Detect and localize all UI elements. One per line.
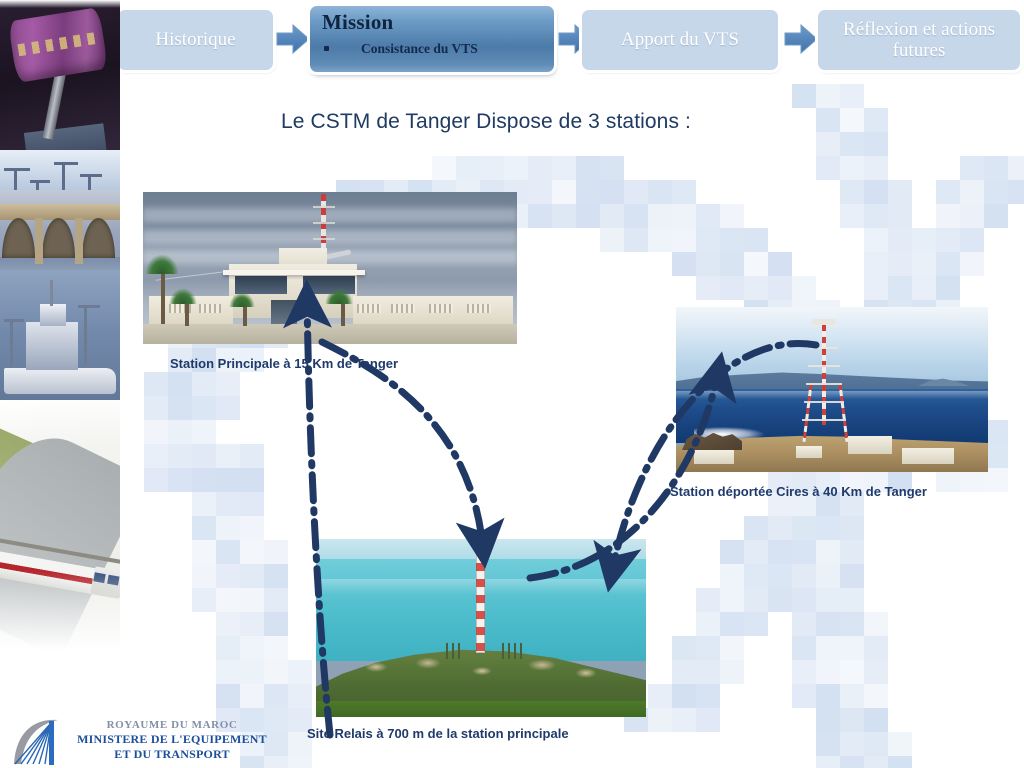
- footer-ministry-logo: ROYAUME DU MAROC MINISTERE DE L'EQUIPEME…: [8, 716, 278, 766]
- nav-item-mission[interactable]: Mission Consistance du VTS: [310, 6, 554, 72]
- caption-station-principale: Station Principale à 15 Km de Tanger: [170, 356, 398, 371]
- road-and-train-photo: [0, 400, 120, 700]
- footer-line-ministere: MINISTERE DE L'EQUIPEMENT: [66, 732, 278, 747]
- nav-item-bullet-row: Consistance du VTS: [322, 41, 544, 56]
- nav-item-label: Mission: [322, 11, 544, 35]
- ministry-bridge-logo: [8, 716, 66, 766]
- arrow-right-icon: [784, 24, 818, 54]
- connector-main-to-relay: [322, 342, 483, 548]
- footer-line-royaume: ROYAUME DU MAROC: [66, 719, 278, 731]
- photo-main-station-building: [143, 192, 517, 344]
- strip-top-fade: [0, 0, 120, 8]
- nav-chevron-bar: Historique Mission Consistance du VTS: [118, 4, 1024, 76]
- arrow-right-icon: [276, 24, 310, 54]
- nav-item-label: Historique: [155, 29, 235, 50]
- nav-item-apport-du-vts[interactable]: Apport du VTS: [582, 10, 778, 70]
- caption-station-cires: Station déportée Cires à 40 Km de Tanger: [670, 484, 927, 499]
- photo-relay-site-tower: [316, 539, 646, 717]
- footer-line-transport: ET DU TRANSPORT: [66, 747, 278, 762]
- nav-item-label: Apport du VTS: [621, 29, 739, 50]
- nav-item-reflexion-actions-futures[interactable]: Réflexion et actions futures: [818, 10, 1020, 70]
- nav-item-label: Réflexion et actions futures: [826, 19, 1012, 62]
- bullet-dot-icon: [324, 46, 329, 51]
- nav-item-bullet-label: Consistance du VTS: [339, 41, 478, 56]
- page-title: Le CSTM de Tanger Dispose de 3 stations …: [281, 110, 691, 134]
- caption-site-relais: Site Relais à 700 m de la station princi…: [307, 726, 569, 741]
- left-photo-strip: [0, 0, 120, 768]
- slide-canvas: Historique Mission Consistance du VTS: [0, 0, 1024, 768]
- footer-text-block: ROYAUME DU MAROC MINISTERE DE L'EQUIPEME…: [66, 719, 278, 762]
- ship-harbour-photo: [0, 270, 120, 410]
- photo-cires-coastal-station: [676, 307, 988, 472]
- nav-item-historique[interactable]: Historique: [118, 10, 273, 70]
